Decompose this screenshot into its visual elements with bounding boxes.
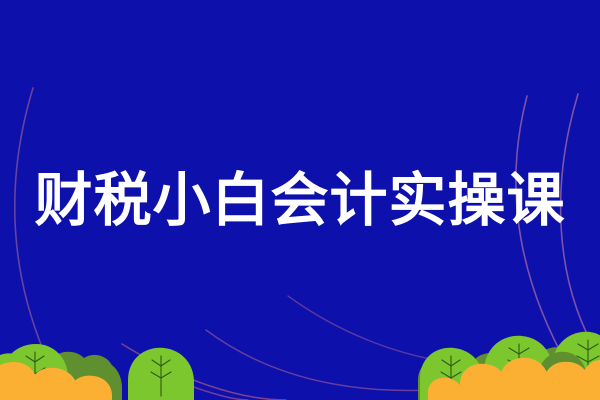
leaf-vein-left-2 bbox=[26, 356, 35, 362]
arc-bottom-3 bbox=[122, 344, 286, 400]
leaf-vein-left-8 bbox=[161, 360, 170, 366]
leaf-vein-group-left bbox=[25, 352, 171, 396]
leaf-bright-left-2 bbox=[0, 354, 12, 400]
left-foliage-cluster bbox=[0, 344, 194, 400]
leaf-vein-right-5 bbox=[451, 372, 461, 378]
leaf-vein-right-11 bbox=[509, 372, 519, 378]
leaf-vein-left-5 bbox=[35, 368, 45, 374]
leaf-vein-right-9 bbox=[508, 360, 519, 366]
leaf-vein-right-16 bbox=[577, 356, 588, 362]
arc-bottom-1 bbox=[206, 330, 600, 390]
leaf-olive-right-3 bbox=[418, 358, 450, 400]
leaf-vein-left-10 bbox=[161, 372, 171, 378]
poster-canvas: 财税小白会计实操课 bbox=[0, 0, 600, 400]
leaf-vein-right-14 bbox=[578, 344, 588, 350]
leaf-vein-right-15 bbox=[588, 344, 598, 350]
leaf-vein-right-8 bbox=[519, 348, 529, 354]
right-foliage-cluster bbox=[418, 332, 600, 400]
leaf-vein-left-3 bbox=[35, 356, 44, 362]
fruit-orange-right-4 bbox=[544, 362, 590, 400]
leaf-vein-right-2 bbox=[442, 360, 451, 366]
leaf-bright-left-1 bbox=[2, 344, 68, 400]
fruit-orange-right-1 bbox=[428, 378, 464, 400]
leaf-bright-right-2 bbox=[484, 336, 554, 400]
fruit-orange-right-3 bbox=[500, 358, 550, 400]
leaf-vein-right-7 bbox=[509, 348, 519, 354]
fruit-orange-right-2 bbox=[460, 364, 508, 400]
title-layer: 财税小白会计实操课 bbox=[0, 0, 600, 400]
leaf-vein-right-4 bbox=[441, 372, 451, 378]
foliage-layer bbox=[0, 0, 600, 400]
fruit-orange-left-1 bbox=[0, 362, 38, 400]
leaf-bright-left-3 bbox=[128, 348, 194, 400]
leaf-vein-right-10 bbox=[519, 360, 530, 366]
leaf-olive-left-1 bbox=[0, 349, 62, 400]
arc-group-left bbox=[15, 88, 44, 352]
leaf-vein-left-9 bbox=[151, 372, 161, 378]
leaf-vein-left-4 bbox=[25, 368, 35, 374]
leaf-vein-right-3 bbox=[451, 360, 460, 366]
leaf-olive-right-4 bbox=[538, 352, 588, 400]
arc-left-1 bbox=[15, 88, 44, 352]
leaf-bright-right-1 bbox=[420, 348, 484, 400]
decorative-arcs-layer bbox=[0, 0, 600, 400]
leaf-vein-right-12 bbox=[519, 372, 529, 378]
leaf-vein-left-7 bbox=[152, 360, 161, 366]
arc-bottom-5 bbox=[470, 362, 600, 390]
fruit-orange-right-5 bbox=[582, 360, 600, 400]
arc-group-bottom bbox=[122, 296, 600, 400]
arc-right-1 bbox=[516, 96, 568, 366]
leaf-vein-group-right bbox=[441, 340, 599, 396]
leaf-olive-left-2 bbox=[48, 352, 114, 400]
leaf-vein-right-17 bbox=[588, 356, 599, 362]
arc-group-right bbox=[516, 94, 600, 366]
title-block: 财税小白会计实操课 bbox=[0, 0, 600, 400]
arc-bottom-4 bbox=[148, 370, 248, 400]
fruit-orange-left-3 bbox=[70, 376, 112, 400]
fruit-orange-left-2 bbox=[30, 368, 78, 400]
arc-right-2 bbox=[561, 94, 600, 358]
page-title: 财税小白会计实操课 bbox=[34, 170, 565, 231]
leaf-olive-right-1 bbox=[470, 352, 540, 400]
leaf-olive-left-3 bbox=[70, 360, 122, 400]
arc-bottom-2 bbox=[288, 296, 600, 366]
leaf-olive-right-2 bbox=[536, 347, 600, 400]
leaf-bright-right-3 bbox=[552, 332, 600, 400]
